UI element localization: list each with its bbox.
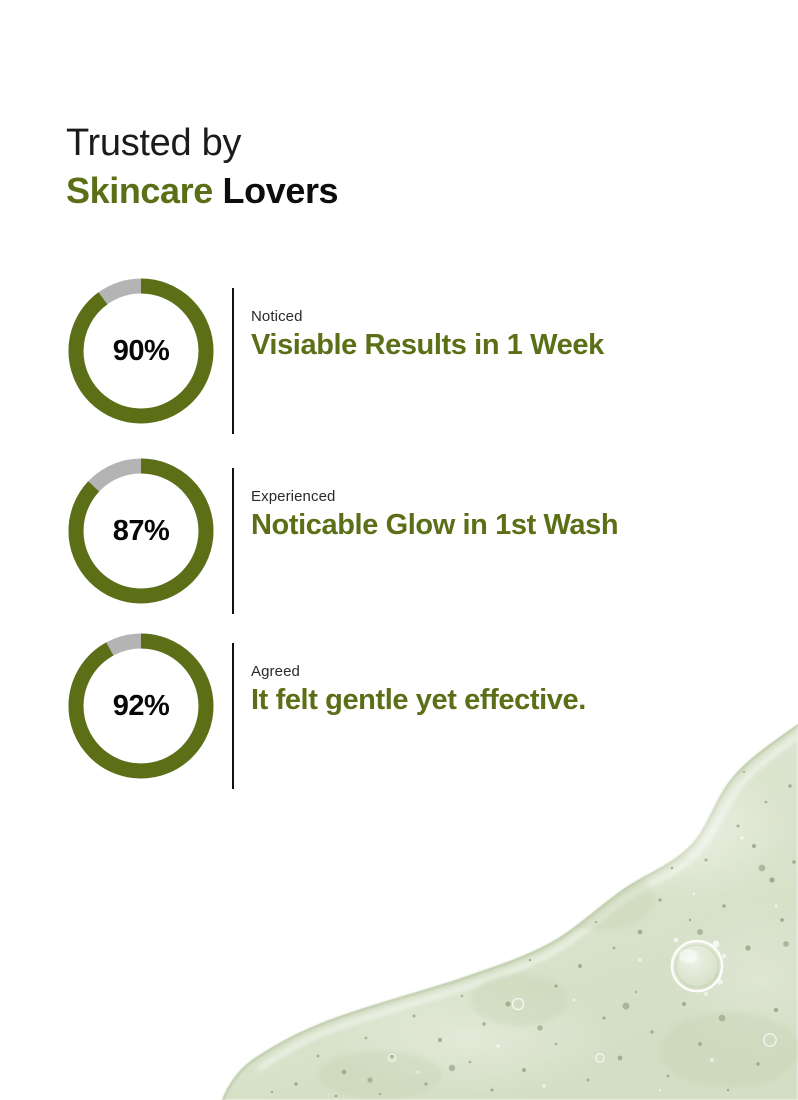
donut-chart-2: 87% bbox=[68, 458, 214, 604]
headline-accent-word: Skincare bbox=[66, 170, 213, 211]
stat-text-block-3: Agreed It felt gentle yet effective. bbox=[251, 663, 771, 717]
stat-headline-2: Noticable Glow in 1st Wash bbox=[251, 509, 771, 542]
stat-text-block-2: Experienced Noticable Glow in 1st Wash bbox=[251, 488, 771, 542]
headline-line-1: Trusted by bbox=[66, 124, 338, 162]
headline-line-2: Skincare Lovers bbox=[66, 173, 338, 209]
headline-dark-word: Lovers bbox=[223, 170, 339, 211]
poster-canvas: Trusted by Skincare Lovers 90% Noticed V… bbox=[0, 0, 798, 1100]
donut-value-3: 92% bbox=[68, 633, 214, 779]
stat-text-block-1: Noticed Visiable Results in 1 Week bbox=[251, 308, 771, 362]
donut-value-2: 87% bbox=[68, 458, 214, 604]
stat-headline-1: Visiable Results in 1 Week bbox=[251, 329, 771, 362]
gel-bubble bbox=[672, 938, 726, 996]
donut-chart-1: 90% bbox=[68, 278, 214, 424]
page-title: Trusted by Skincare Lovers bbox=[66, 124, 338, 209]
stat-row: 87% Experienced Noticable Glow in 1st Wa… bbox=[0, 458, 798, 618]
stat-kicker-1: Noticed bbox=[251, 308, 771, 325]
stat-row: 92% Agreed It felt gentle yet effective. bbox=[0, 633, 798, 793]
donut-value-1: 90% bbox=[68, 278, 214, 424]
stat-kicker-3: Agreed bbox=[251, 663, 771, 680]
stat-divider bbox=[232, 643, 234, 789]
stat-divider bbox=[232, 288, 234, 434]
stat-headline-3: It felt gentle yet effective. bbox=[251, 684, 771, 717]
donut-chart-3: 92% bbox=[68, 633, 214, 779]
stat-divider bbox=[232, 468, 234, 614]
stat-kicker-2: Experienced bbox=[251, 488, 771, 505]
stat-row: 90% Noticed Visiable Results in 1 Week bbox=[0, 278, 798, 438]
